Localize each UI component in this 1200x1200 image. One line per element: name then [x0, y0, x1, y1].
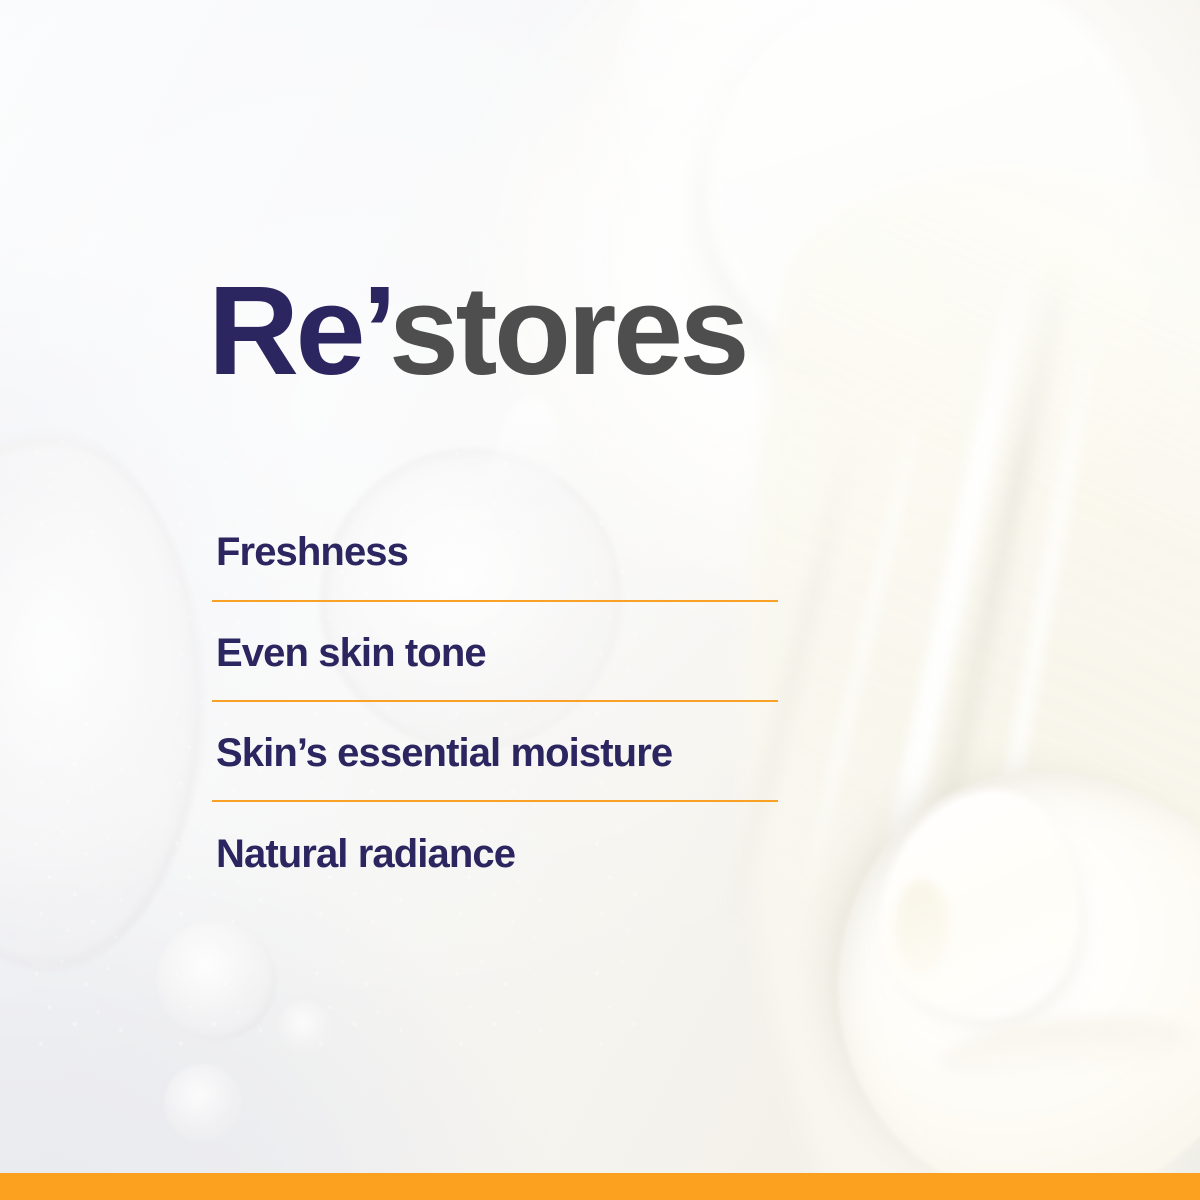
list-item: Even skin tone — [212, 602, 778, 702]
title-rest-part: stores — [389, 260, 746, 401]
bottom-accent-bar — [0, 1173, 1200, 1200]
benefit-label-even-skin-tone: Even skin tone — [212, 602, 778, 700]
benefit-label-essential-moisture: Skin’s essential moisture — [212, 702, 778, 800]
list-item: Skin’s essential moisture — [212, 702, 778, 802]
benefit-label-natural-radiance: Natural radiance — [212, 802, 778, 874]
list-item: Natural radiance — [212, 802, 778, 874]
promo-poster: Re’stores Freshness Even skin tone Skin’… — [0, 0, 1200, 1200]
benefits-list: Freshness Even skin tone Skin’s essentia… — [212, 516, 778, 874]
benefit-label-freshness: Freshness — [212, 516, 778, 600]
title-brand-part: Re’ — [208, 260, 389, 401]
poster-content: Re’stores Freshness Even skin tone Skin’… — [0, 0, 1200, 1200]
page-title: Re’stores — [208, 268, 746, 394]
list-item: Freshness — [212, 516, 778, 602]
